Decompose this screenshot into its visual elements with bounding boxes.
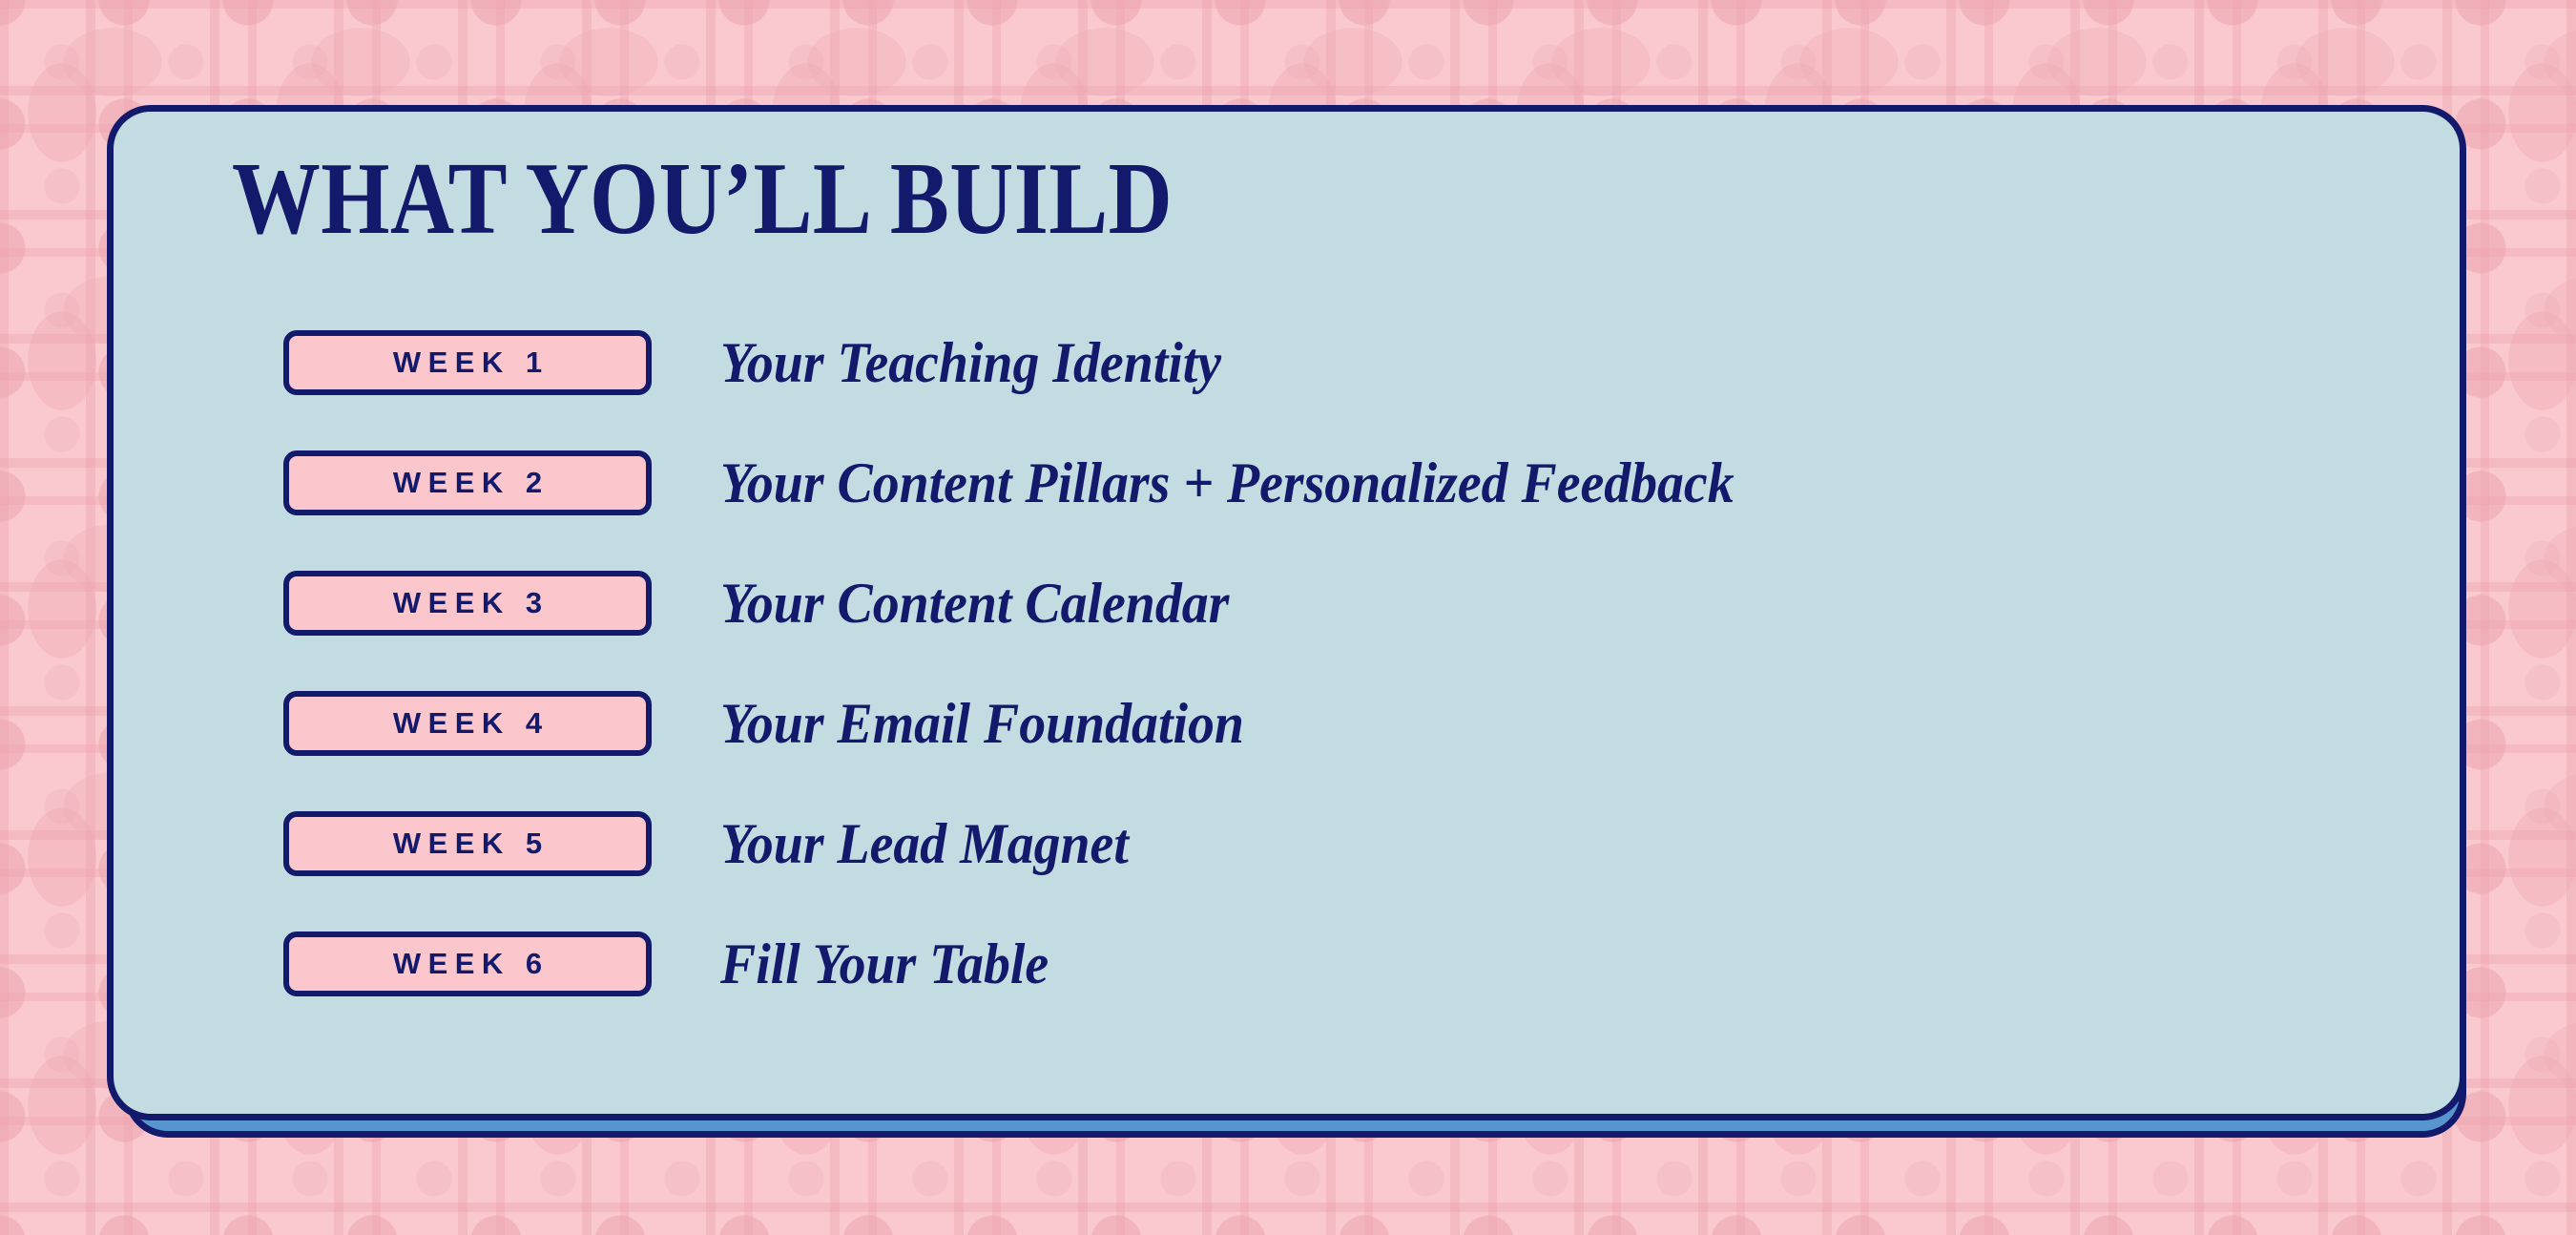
week-badge-2[interactable]: WEEK 2 — [283, 450, 652, 515]
page-title: WHAT YOU’LL BUILD — [232, 142, 1173, 258]
week-label-6: Fill Your Table — [720, 935, 1049, 993]
week-badge-4[interactable]: WEEK 4 — [283, 691, 652, 756]
week-row: WEEK 1 Your Teaching Identity — [114, 303, 2460, 423]
week-row: WEEK 5 Your Lead Magnet — [114, 784, 2460, 904]
week-label-1: Your Teaching Identity — [720, 334, 1221, 391]
week-row: WEEK 4 Your Email Foundation — [114, 663, 2460, 784]
week-list: WEEK 1 Your Teaching Identity WEEK 2 You… — [114, 303, 2460, 1024]
week-badge-6[interactable]: WEEK 6 — [283, 931, 652, 996]
week-badge-1[interactable]: WEEK 1 — [283, 330, 652, 395]
week-row: WEEK 6 Fill Your Table — [114, 904, 2460, 1024]
week-label-3: Your Content Calendar — [720, 575, 1229, 632]
slide-canvas: WHAT YOU’LL BUILD WEEK 1 Your Teaching I… — [0, 0, 2576, 1235]
week-badge-5[interactable]: WEEK 5 — [283, 811, 652, 876]
week-row: WEEK 3 Your Content Calendar — [114, 543, 2460, 663]
what-youll-build-card: WHAT YOU’LL BUILD WEEK 1 Your Teaching I… — [107, 105, 2466, 1120]
week-label-2: Your Content Pillars + Personalized Feed… — [720, 454, 1735, 512]
week-badge-3[interactable]: WEEK 3 — [283, 571, 652, 636]
week-label-4: Your Email Foundation — [720, 695, 1244, 752]
week-row: WEEK 2 Your Content Pillars + Personaliz… — [114, 423, 2460, 543]
week-label-5: Your Lead Magnet — [720, 815, 1129, 872]
